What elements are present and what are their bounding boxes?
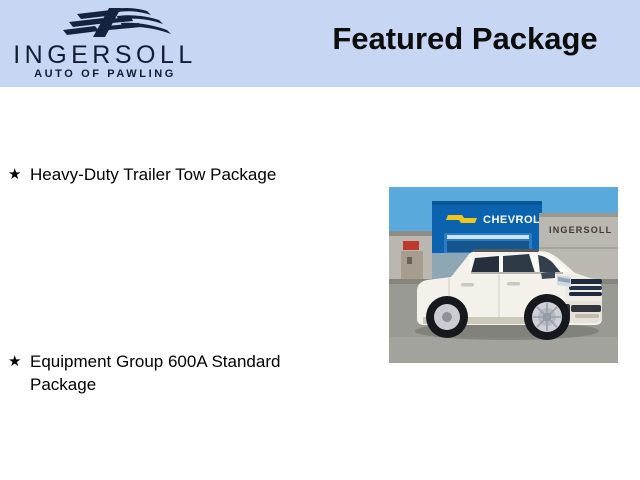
ingersoll-winged-emblem-icon	[55, 6, 175, 40]
page-title: Featured Package	[300, 20, 630, 58]
featured-vehicle-photo: CHEVROLET INGERSOLL	[389, 187, 618, 363]
star-bullet-icon: ★	[8, 350, 30, 373]
list-item: ★ Heavy-Duty Trailer Tow Package	[8, 163, 338, 186]
brand-subtitle: AUTO OF PAWLING	[0, 68, 210, 80]
brand-wordmark: INGERSOLL	[0, 42, 210, 68]
brand-logo: INGERSOLL AUTO OF PAWLING	[0, 2, 210, 86]
list-item: ★ Equipment Group 600A Standard Package	[8, 350, 338, 396]
star-bullet-icon: ★	[8, 163, 30, 186]
feature-label: Heavy-Duty Trailer Tow Package	[30, 163, 338, 186]
feature-label: Equipment Group 600A Standard Package	[30, 350, 338, 396]
svg-text:INGERSOLL: INGERSOLL	[549, 225, 612, 235]
feature-list: ★ Heavy-Duty Trailer Tow Package ★ Equip…	[0, 87, 380, 480]
